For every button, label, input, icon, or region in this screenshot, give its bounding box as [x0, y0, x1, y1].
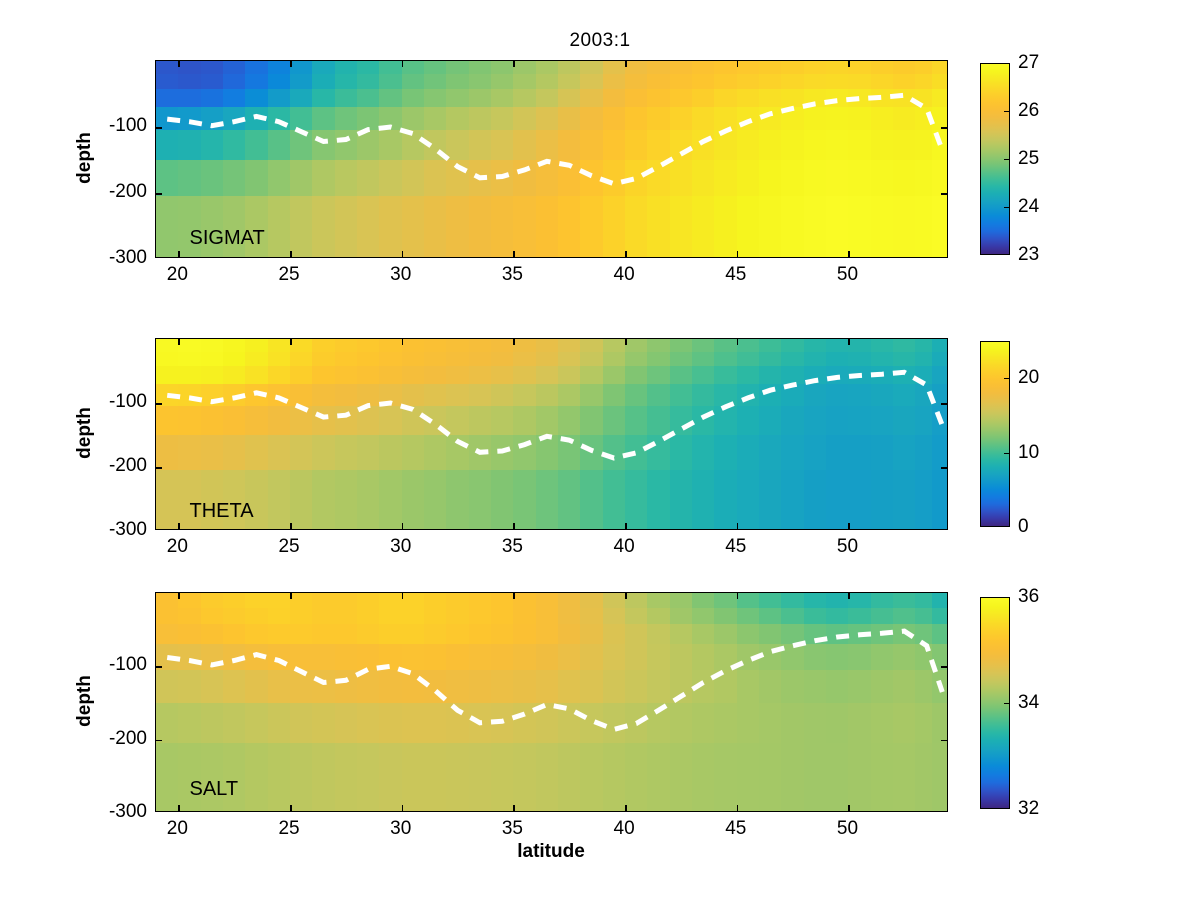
heatmap-cell — [424, 670, 447, 704]
heatmap-cell — [469, 703, 492, 744]
heatmap-column — [424, 593, 447, 811]
heatmap-cell — [379, 160, 402, 197]
heatmap-cell — [402, 644, 425, 670]
heatmap-cell — [692, 107, 715, 131]
heatmap-cell — [670, 61, 693, 75]
heatmap-cell — [893, 743, 916, 812]
heatmap-cell — [335, 703, 358, 744]
heatmap-cell — [446, 608, 469, 625]
heatmap-cell — [536, 74, 559, 89]
heatmap-cell — [915, 624, 932, 645]
heatmap-column — [603, 339, 626, 529]
heatmap-cell — [692, 608, 715, 625]
heatmap-cell — [223, 406, 246, 435]
heatmap-cell — [625, 703, 648, 744]
heatmap-cell — [781, 160, 804, 197]
x-tick-mark — [178, 805, 180, 811]
heatmap-cell — [312, 74, 335, 89]
heatmap-cell — [781, 703, 804, 744]
heatmap-cell — [804, 130, 827, 160]
y-tick-mark — [941, 193, 947, 195]
heatmap-cell — [402, 352, 425, 367]
heatmap-cell — [714, 74, 737, 89]
heatmap-cell — [223, 352, 246, 367]
y-tick-label: -100 — [109, 391, 147, 413]
heatmap-column — [625, 61, 648, 257]
heatmap-cell — [268, 107, 291, 131]
heatmap-cell — [312, 593, 335, 608]
heatmap-cell — [335, 196, 358, 258]
heatmap-cell — [312, 384, 335, 407]
heatmap-cell — [714, 593, 737, 608]
heatmap-cell — [424, 435, 447, 471]
heatmap-cell — [201, 74, 224, 89]
heatmap-column — [536, 593, 559, 811]
heatmap-cell — [335, 624, 358, 645]
heatmap-cell — [424, 644, 447, 670]
heatmap-cell — [893, 89, 916, 108]
heatmap-cell — [536, 670, 559, 704]
heatmap-cell — [357, 670, 380, 704]
y-tick-mark — [156, 467, 162, 469]
colorbar-tick-mark — [1004, 453, 1009, 454]
heatmap-cell — [580, 89, 603, 108]
heatmap-cell — [558, 624, 581, 645]
heatmap-cell — [446, 130, 469, 160]
heatmap-cell — [580, 352, 603, 367]
heatmap-cell — [223, 107, 246, 131]
heatmap-cell — [513, 196, 536, 258]
heatmap-cell — [647, 74, 670, 89]
heatmap-cell — [603, 644, 626, 670]
heatmap-cell — [357, 624, 380, 645]
heatmap-column — [357, 339, 380, 529]
heatmap-cell — [156, 703, 179, 744]
heatmap-cell — [781, 743, 804, 812]
x-tick-mark — [178, 523, 180, 529]
heatmap-cell — [871, 160, 894, 197]
heatmap-column — [580, 593, 603, 811]
heatmap-cell — [848, 89, 871, 108]
heatmap-cell — [826, 160, 849, 197]
heatmap-column — [647, 339, 670, 529]
heatmap-cell — [915, 593, 932, 608]
heatmap-cell — [781, 470, 804, 530]
heatmap-cell — [647, 608, 670, 625]
heatmap-cell — [536, 89, 559, 108]
heatmap-cell — [402, 384, 425, 407]
heatmap-cell — [513, 61, 536, 75]
heatmap-cell — [558, 670, 581, 704]
heatmap-cell — [603, 339, 626, 352]
heatmap-cell — [335, 593, 358, 608]
heatmap-cell — [469, 593, 492, 608]
heatmap-cell — [491, 74, 514, 89]
y-tick-label: -200 — [109, 181, 147, 203]
y-tick-label: -200 — [109, 728, 147, 750]
x-tick-mark — [513, 805, 515, 811]
heatmap-cell — [290, 624, 313, 645]
heatmap-cell — [178, 89, 201, 108]
heatmap-column — [893, 61, 916, 257]
heatmap-cell — [871, 624, 894, 645]
heatmap-cell — [915, 196, 932, 258]
heatmap-cell — [714, 670, 737, 704]
heatmap-cell — [804, 743, 827, 812]
heatmap-column — [804, 61, 827, 257]
heatmap-cell — [245, 593, 268, 608]
heatmap-cell — [893, 74, 916, 89]
heatmap-cell — [402, 670, 425, 704]
heatmap-cell — [178, 366, 201, 384]
heatmap-cell — [357, 743, 380, 812]
figure-canvas: 2003:1 SIGMAT20253035404550-100-200-300d… — [0, 0, 1200, 900]
heatmap-cell — [915, 670, 932, 704]
heatmap-cell — [737, 89, 760, 108]
heatmap-cell — [424, 130, 447, 160]
heatmap-cell — [625, 196, 648, 258]
x-tick-mark — [513, 339, 515, 345]
heatmap-column — [312, 339, 335, 529]
heatmap-cell — [871, 435, 894, 471]
heatmap-cell — [670, 196, 693, 258]
heatmap-cell — [491, 130, 514, 160]
heatmap-column — [558, 61, 581, 257]
x-tick-mark — [513, 61, 515, 67]
heatmap-cell — [491, 670, 514, 704]
heatmap-cell — [826, 339, 849, 352]
heatmap-cell — [379, 384, 402, 407]
heatmap-cell — [223, 61, 246, 75]
heatmap-cell — [469, 107, 492, 131]
x-tick-label: 20 — [167, 264, 188, 286]
heatmap-cell — [357, 160, 380, 197]
heatmap-cell — [893, 384, 916, 407]
heatmap-cell — [402, 130, 425, 160]
heatmap-cell — [580, 61, 603, 75]
heatmap-cell — [357, 384, 380, 407]
heatmap-cell — [223, 339, 246, 352]
heatmap-cell — [402, 608, 425, 625]
heatmap-cell — [580, 107, 603, 131]
heatmap-cell — [826, 435, 849, 471]
heatmap-cell — [692, 61, 715, 75]
heatmap-column — [558, 593, 581, 811]
heatmap-cell — [446, 470, 469, 530]
heatmap-cell — [781, 435, 804, 471]
heatmap-cell — [558, 406, 581, 435]
heatmap-cell — [871, 366, 894, 384]
heatmap-cell — [268, 61, 291, 75]
heatmap-column — [335, 61, 358, 257]
heatmap-cell — [692, 470, 715, 530]
heatmap-cell — [670, 435, 693, 471]
heatmap-cell — [580, 196, 603, 258]
heatmap-cell — [424, 406, 447, 435]
heatmap-column — [156, 593, 179, 811]
heatmap-column — [848, 339, 871, 529]
heatmap-cell — [848, 130, 871, 160]
y-tick-label: -300 — [109, 801, 147, 823]
heatmap-cell — [223, 384, 246, 407]
heatmap-cell — [871, 61, 894, 75]
heatmap-column — [402, 339, 425, 529]
heatmap-cell — [893, 61, 916, 75]
heatmap-cell — [647, 624, 670, 645]
heatmap-cell — [268, 339, 291, 352]
x-tick-label: 25 — [278, 264, 299, 286]
colorbar-tick-label: 34 — [1018, 692, 1039, 714]
heatmap-cell — [469, 435, 492, 471]
heatmap-cell — [201, 435, 224, 471]
heatmap-cell — [312, 644, 335, 670]
heatmap-column — [759, 61, 782, 257]
heatmap-cell — [536, 339, 559, 352]
heatmap-cell — [312, 196, 335, 258]
heatmap-cell — [670, 593, 693, 608]
heatmap-cell — [603, 703, 626, 744]
heatmap-cell — [379, 339, 402, 352]
x-tick-label: 30 — [390, 536, 411, 558]
heatmap-cell — [804, 196, 827, 258]
heatmap-cell — [357, 366, 380, 384]
colorbar-tick-label: 24 — [1018, 196, 1039, 218]
x-tick-mark — [402, 339, 404, 345]
heatmap-cell — [580, 624, 603, 645]
heatmap-cell — [625, 339, 648, 352]
x-tick-label: 40 — [614, 536, 635, 558]
heatmap-cell — [647, 470, 670, 530]
heatmap-cell — [201, 339, 224, 352]
heatmap-column — [379, 593, 402, 811]
colorbar-tick-label: 23 — [1018, 244, 1039, 266]
heatmap-column — [402, 61, 425, 257]
heatmap-column — [625, 339, 648, 529]
heatmap-cell — [603, 130, 626, 160]
heatmap-cell — [848, 74, 871, 89]
heatmap-cell — [156, 624, 179, 645]
heatmap-cell — [223, 703, 246, 744]
heatmap-column — [692, 339, 715, 529]
heatmap-cell — [513, 644, 536, 670]
heatmap-cell — [245, 352, 268, 367]
heatmap-cell — [714, 339, 737, 352]
heatmap-cell — [647, 130, 670, 160]
heatmap-cell — [692, 160, 715, 197]
x-tick-mark — [848, 339, 850, 345]
heatmap-cell — [670, 107, 693, 131]
heatmap-column — [491, 593, 514, 811]
heatmap-cell — [781, 406, 804, 435]
heatmap-cell — [335, 435, 358, 471]
heatmap-cell — [290, 703, 313, 744]
heatmap-cell — [759, 196, 782, 258]
heatmap-cell — [245, 366, 268, 384]
heatmap-cell — [513, 406, 536, 435]
heatmap-cell — [580, 743, 603, 812]
heatmap-cell — [536, 593, 559, 608]
heatmap-cell — [714, 366, 737, 384]
heatmap-cell — [379, 470, 402, 530]
heatmap-cell — [290, 743, 313, 812]
heatmap-cell — [357, 89, 380, 108]
x-tick-mark — [625, 61, 627, 67]
heatmap-cell — [692, 435, 715, 471]
heatmap-cell — [759, 61, 782, 75]
heatmap-cell — [558, 107, 581, 131]
heatmap-cell — [871, 74, 894, 89]
heatmap-cell — [536, 61, 559, 75]
y-tick-mark — [941, 666, 947, 668]
x-tick-mark — [178, 251, 180, 257]
x-tick-mark — [737, 805, 739, 811]
heatmap-cell — [178, 339, 201, 352]
heatmap-cell — [826, 107, 849, 131]
x-tick-mark — [178, 61, 180, 67]
heatmap-cell — [156, 608, 179, 625]
heatmap-cell — [469, 608, 492, 625]
heatmap-column — [357, 61, 380, 257]
heatmap-cell — [446, 339, 469, 352]
heatmap-cell — [424, 608, 447, 625]
heatmap-cell — [424, 352, 447, 367]
heatmap-cell — [402, 89, 425, 108]
heatmap-column — [692, 61, 715, 257]
heatmap-column — [804, 593, 827, 811]
heatmap-cell — [737, 352, 760, 367]
x-tick-mark — [737, 61, 739, 67]
heatmap-cell — [848, 366, 871, 384]
heatmap-cell — [714, 743, 737, 812]
heatmap-cell — [647, 593, 670, 608]
heatmap-cell — [357, 196, 380, 258]
heatmap-cell — [932, 74, 948, 89]
heatmap-cell — [871, 644, 894, 670]
x-tick-mark — [625, 251, 627, 257]
heatmap-cell — [513, 130, 536, 160]
heatmap-cell — [647, 670, 670, 704]
heatmap-cell — [446, 61, 469, 75]
heatmap-cell — [692, 703, 715, 744]
heatmap-cell — [871, 703, 894, 744]
heatmap-column — [536, 339, 559, 529]
heatmap-cell — [536, 160, 559, 197]
heatmap-cell — [848, 435, 871, 471]
heatmap-cell — [692, 593, 715, 608]
heatmap-cell — [848, 352, 871, 367]
heatmap-cell — [804, 366, 827, 384]
heatmap-column — [379, 339, 402, 529]
heatmap-cell — [932, 608, 948, 625]
heatmap-cell — [647, 435, 670, 471]
heatmap-cell — [469, 61, 492, 75]
heatmap-cell — [804, 384, 827, 407]
heatmap-cell — [932, 435, 948, 471]
heatmap-cell — [335, 366, 358, 384]
heatmap-cell — [714, 470, 737, 530]
heatmap-cell — [625, 470, 648, 530]
heatmap-cell — [513, 160, 536, 197]
heatmap-cell — [156, 339, 179, 352]
heatmap-cell — [379, 670, 402, 704]
colorbar-tick-mark — [1004, 378, 1009, 379]
heatmap-cell — [932, 89, 948, 108]
heatmap-cell — [759, 703, 782, 744]
heatmap-cell — [580, 470, 603, 530]
heatmap-column — [446, 61, 469, 257]
colorbar-tick-label: 25 — [1018, 148, 1039, 170]
heatmap-cell — [915, 384, 932, 407]
heatmap-column — [871, 593, 894, 811]
heatmap-column — [513, 61, 536, 257]
heatmap-cell — [580, 74, 603, 89]
heatmap-column — [737, 339, 760, 529]
heatmap-column — [647, 593, 670, 811]
heatmap-cell — [178, 61, 201, 75]
heatmap-cell — [379, 130, 402, 160]
heatmap-cell — [625, 593, 648, 608]
heatmap-cell — [558, 61, 581, 75]
heatmap-cell — [558, 384, 581, 407]
heatmap-cell — [915, 74, 932, 89]
heatmap-cell — [491, 366, 514, 384]
x-tick-mark — [402, 805, 404, 811]
heatmap-cell — [871, 593, 894, 608]
heatmap-cell — [469, 89, 492, 108]
heatmap-cell — [804, 624, 827, 645]
heatmap-cell — [915, 644, 932, 670]
heatmap-cell — [670, 644, 693, 670]
heatmap-cell — [871, 107, 894, 131]
heatmap-cell — [647, 339, 670, 352]
heatmap-cell — [781, 593, 804, 608]
heatmap-cell — [871, 470, 894, 530]
heatmap-cell — [871, 670, 894, 704]
heatmap-column — [268, 339, 291, 529]
heatmap-column — [536, 61, 559, 257]
heatmap-cell — [558, 743, 581, 812]
heatmap-cell — [379, 435, 402, 471]
x-tick-mark — [737, 523, 739, 529]
heatmap-column — [580, 61, 603, 257]
x-tick-label: 40 — [614, 818, 635, 840]
heatmap-cell — [156, 160, 179, 197]
heatmap-cell — [915, 743, 932, 812]
heatmap-cell — [491, 339, 514, 352]
heatmap-cell — [201, 406, 224, 435]
heatmap-cell — [580, 384, 603, 407]
heatmap-cell — [469, 160, 492, 197]
heatmap-cell — [848, 703, 871, 744]
heatmap-cell — [223, 624, 246, 645]
heatmap-cell — [737, 608, 760, 625]
heatmap-cell — [402, 61, 425, 75]
heatmap-cell — [893, 196, 916, 258]
heatmap-column — [469, 339, 492, 529]
heatmap-cell — [625, 644, 648, 670]
heatmap-cell — [558, 74, 581, 89]
heatmap-cell — [848, 644, 871, 670]
heatmap-cell — [268, 74, 291, 89]
heatmap-cell — [781, 61, 804, 75]
heatmap-cell — [781, 366, 804, 384]
x-tick-mark — [625, 339, 627, 345]
heatmap-cell — [245, 406, 268, 435]
y-tick-mark — [941, 403, 947, 405]
heatmap-cell — [357, 61, 380, 75]
heatmap-cell — [737, 743, 760, 812]
heatmap-cell — [932, 670, 948, 704]
